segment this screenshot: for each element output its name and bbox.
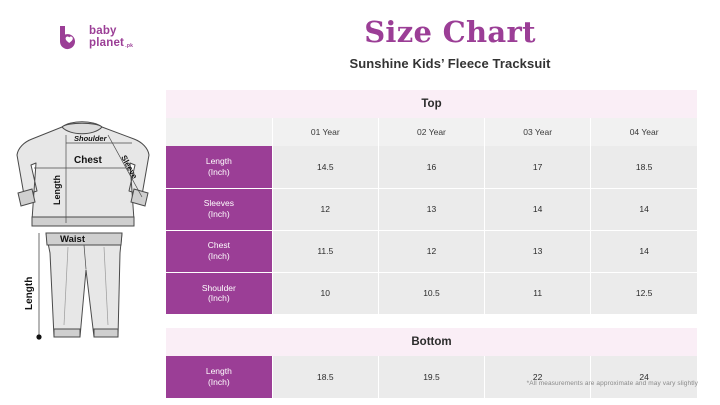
- row-label-bottom-length: Length (Inch): [166, 356, 272, 398]
- measurements-footnote: *All measurements are approximate and ma…: [527, 380, 698, 387]
- row-label-line-1: Shoulder: [166, 283, 272, 294]
- illustration-label-shoulder: Shoulder: [74, 134, 108, 143]
- cell-sleeves-01-year: 12: [272, 188, 378, 230]
- cell-chest-04-year: 14: [591, 230, 697, 272]
- table-row: Chest (Inch) 11.5 12 13 14: [166, 230, 697, 272]
- row-label-line-1: Length: [166, 156, 272, 167]
- cell-length-01-year: 14.5: [272, 146, 378, 188]
- row-label-sleeves: Sleeves (Inch): [166, 188, 272, 230]
- row-label-line-2: (Inch): [166, 167, 272, 178]
- cell-chest-01-year: 11.5: [272, 230, 378, 272]
- corner-cell: [166, 118, 272, 146]
- illustration-label-top-length: Length: [52, 175, 62, 205]
- bottom-table-wrapper: Bottom Length (Inch) 18.5 19.5 22 24: [166, 328, 697, 398]
- row-label-line-1: Chest: [166, 240, 272, 251]
- table-row: Shoulder (Inch) 10 10.5 11 12.5: [166, 272, 697, 314]
- illustration-label-waist: Waist: [60, 234, 86, 245]
- row-label-length: Length (Inch): [166, 146, 272, 188]
- cell-chest-02-year: 12: [378, 230, 484, 272]
- brand-wordmark: baby planet.pk: [89, 25, 124, 49]
- cell-length-03-year: 17: [485, 146, 591, 188]
- column-header-04-year: 04 Year: [591, 118, 697, 146]
- cell-bottom-length-01-year: 18.5: [272, 356, 378, 398]
- top-section-title: Top: [166, 90, 697, 118]
- fleece-tracksuit-diagram: Shoulder Chest Sleeve Length Waist Lengt…: [8, 105, 160, 370]
- column-header-02-year: 02 Year: [378, 118, 484, 146]
- bottom-section-header-row: Bottom: [166, 328, 697, 356]
- illustration-label-bottom-length: Length: [24, 277, 35, 310]
- row-label-line-1: Length: [166, 366, 272, 377]
- row-label-chest: Chest (Inch): [166, 230, 272, 272]
- b-heart-logo-icon: [56, 24, 82, 50]
- top-size-table: Top 01 Year 02 Year 03 Year 04 Year Leng…: [166, 90, 697, 314]
- top-section-header-row: Top: [166, 90, 697, 118]
- brand-tld: .pk: [125, 44, 133, 49]
- row-label-shoulder: Shoulder (Inch): [166, 272, 272, 314]
- brand-line-2: planet.pk: [89, 37, 124, 49]
- row-label-line-2: (Inch): [166, 209, 272, 220]
- cell-shoulder-04-year: 12.5: [591, 272, 697, 314]
- cell-bottom-length-03-year: 22: [485, 356, 591, 398]
- title-block: Size Chart Sunshine Kids’ Fleece Tracksu…: [200, 18, 700, 71]
- brand-line-1: baby: [89, 25, 124, 37]
- bottom-section-title: Bottom: [166, 328, 697, 356]
- illustration-label-chest: Chest: [74, 155, 102, 166]
- cell-shoulder-01-year: 10: [272, 272, 378, 314]
- cell-shoulder-03-year: 11: [485, 272, 591, 314]
- cell-sleeves-03-year: 14: [485, 188, 591, 230]
- cell-shoulder-02-year: 10.5: [378, 272, 484, 314]
- table-row: Sleeves (Inch) 12 13 14 14: [166, 188, 697, 230]
- bottom-size-table: Bottom Length (Inch) 18.5 19.5 22 24: [166, 328, 697, 398]
- size-tables: Top 01 Year 02 Year 03 Year 04 Year Leng…: [166, 90, 697, 398]
- table-row: Length (Inch) 14.5 16 17 18.5: [166, 146, 697, 188]
- row-label-line-2: (Inch): [166, 293, 272, 304]
- column-header-03-year: 03 Year: [485, 118, 591, 146]
- column-header-01-year: 01 Year: [272, 118, 378, 146]
- row-label-line-2: (Inch): [166, 377, 272, 388]
- top-column-header-row: 01 Year 02 Year 03 Year 04 Year: [166, 118, 697, 146]
- cell-length-04-year: 18.5: [591, 146, 697, 188]
- row-label-line-1: Sleeves: [166, 198, 272, 209]
- cell-bottom-length-02-year: 19.5: [378, 356, 484, 398]
- table-row: Length (Inch) 18.5 19.5 22 24: [166, 356, 697, 398]
- cell-chest-03-year: 13: [485, 230, 591, 272]
- brand-logo[interactable]: baby planet.pk: [56, 24, 124, 50]
- row-label-line-2: (Inch): [166, 251, 272, 262]
- cell-sleeves-04-year: 14: [591, 188, 697, 230]
- cell-bottom-length-04-year: 24: [591, 356, 697, 398]
- cell-sleeves-02-year: 13: [378, 188, 484, 230]
- page-title: Size Chart: [200, 18, 700, 47]
- cell-length-02-year: 16: [378, 146, 484, 188]
- page-subtitle: Sunshine Kids’ Fleece Tracksuit: [200, 56, 700, 71]
